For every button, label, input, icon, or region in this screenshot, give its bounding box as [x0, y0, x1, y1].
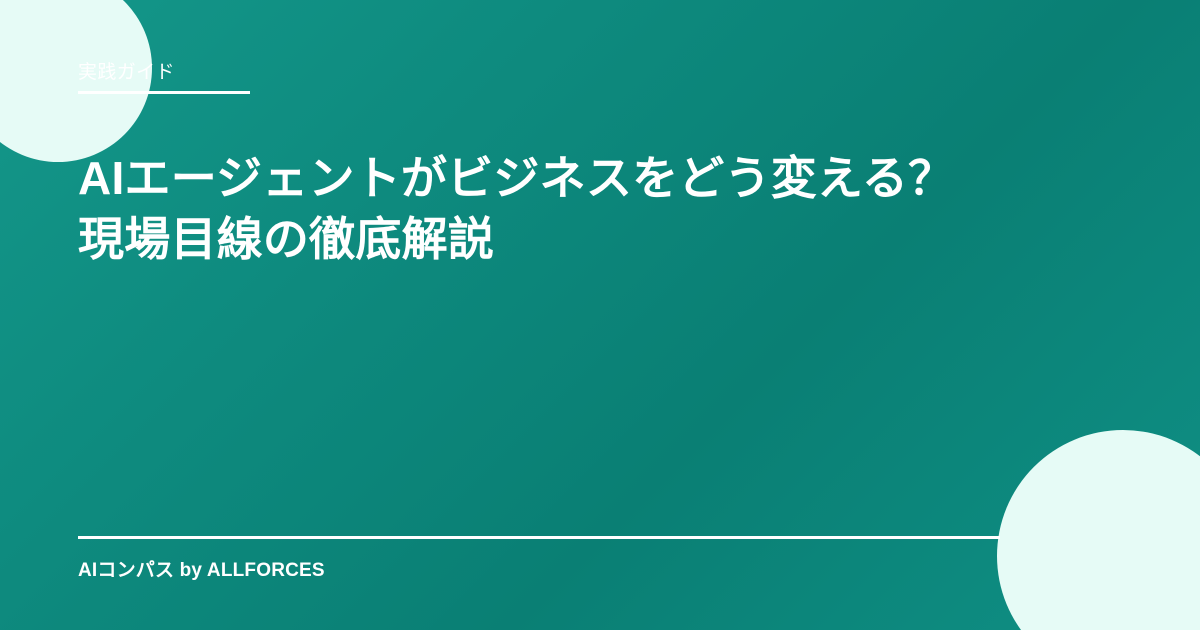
eyebrow-label: 実践ガイド: [78, 62, 250, 85]
eyebrow-underline: [78, 91, 250, 94]
title-line-1: AIエージェントがビジネスをどう変える？: [78, 148, 1018, 209]
footer-divider: [78, 536, 1000, 539]
card-content: 実践ガイド AIエージェントがビジネスをどう変える？ 現場目線の徹底解説 AIコ…: [78, 0, 1122, 630]
eyebrow-block: 実践ガイド: [78, 62, 250, 94]
footer-block: AIコンパス by ALLFORCES: [78, 536, 1000, 583]
brand-label: AIコンパス by ALLFORCES: [78, 560, 1000, 583]
og-image-card: 実践ガイド AIエージェントがビジネスをどう変える？ 現場目線の徹底解説 AIコ…: [0, 0, 1200, 630]
title-line-2: 現場目線の徹底解説: [78, 209, 1018, 270]
page-title: AIエージェントがビジネスをどう変える？ 現場目線の徹底解説: [78, 148, 1018, 269]
